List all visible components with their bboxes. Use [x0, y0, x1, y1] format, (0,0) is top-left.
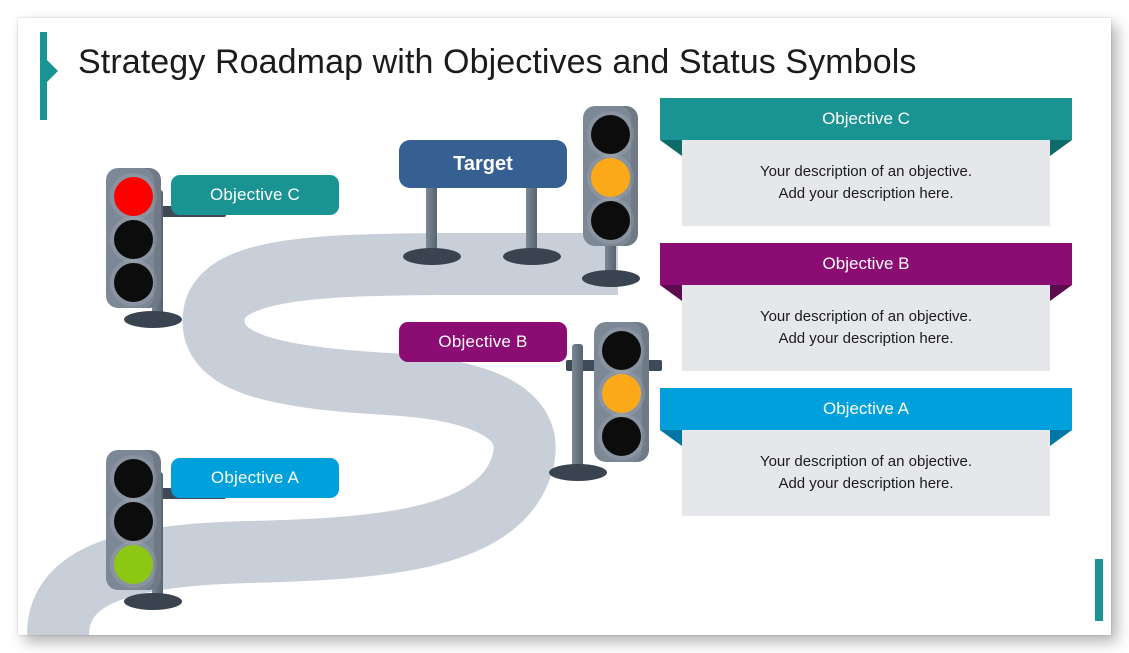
ribbon-fold-right [1050, 140, 1072, 156]
traffic-light-housing [594, 322, 649, 462]
objective-card-a[interactable]: Objective A Your description of an objec… [682, 388, 1050, 516]
objective-card-a-line2: Add your description here. [760, 473, 972, 496]
objective-card-b-line2: Add your description here. [760, 328, 972, 351]
objective-card-c[interactable]: Objective C Your description of an objec… [682, 98, 1050, 226]
left-accent-arrow-icon [47, 60, 58, 82]
objective-card-b-title: Objective B [823, 254, 910, 274]
traffic-light-housing [106, 168, 161, 308]
lamp-amber-off [114, 220, 153, 259]
traffic-light-housing [583, 106, 638, 246]
lamp-red-off [602, 331, 641, 370]
pill-objective-a-label: Objective A [211, 468, 299, 488]
objective-card-b-body: Your description of an objective. Add yo… [682, 285, 1050, 371]
objective-card-a-body: Your description of an objective. Add yo… [682, 430, 1050, 516]
target-post-left [426, 185, 437, 257]
traffic-light-base [582, 270, 640, 287]
objective-card-c-line1: Your description of an objective. [760, 161, 972, 184]
slide-canvas: Strategy Roadmap with Objectives and Sta… [18, 18, 1111, 635]
objective-card-a-line1: Your description of an objective. [760, 451, 972, 474]
objective-card-a-title: Objective A [823, 399, 909, 419]
lamp-amber-on [602, 374, 641, 413]
lamp-red-off [591, 115, 630, 154]
objective-card-c-title: Objective C [822, 109, 910, 129]
objective-card-c-line2: Add your description here. [760, 183, 972, 206]
traffic-light-base [124, 593, 182, 610]
traffic-light-base [549, 464, 607, 481]
lamp-amber-on [591, 158, 630, 197]
target-label: Target [453, 153, 513, 176]
lamp-green-off [591, 201, 630, 240]
lamp-red-off [114, 459, 153, 498]
lamp-green-on [114, 545, 153, 584]
ribbon-fold-left [660, 285, 682, 301]
ribbon-fold-right [1050, 285, 1072, 301]
target-base-left [403, 248, 461, 265]
objective-card-b-line1: Your description of an objective. [760, 306, 972, 329]
objective-card-c-header: Objective C [660, 98, 1072, 140]
traffic-light-housing [106, 450, 161, 590]
lamp-red-on [114, 177, 153, 216]
traffic-light-pole [572, 344, 583, 474]
lamp-amber-off [114, 502, 153, 541]
objective-card-b[interactable]: Objective B Your description of an objec… [682, 243, 1050, 371]
target-post-right [526, 185, 537, 257]
lamp-green-off [114, 263, 153, 302]
pill-objective-b[interactable]: Objective B [399, 322, 567, 362]
lamp-green-off [602, 417, 641, 456]
objective-card-b-header: Objective B [660, 243, 1072, 285]
traffic-light-base [124, 311, 182, 328]
ribbon-fold-left [660, 140, 682, 156]
pill-objective-c[interactable]: Objective C [171, 175, 339, 215]
target-sign-plate[interactable]: Target [399, 140, 567, 188]
pill-objective-b-label: Objective B [438, 332, 527, 352]
objective-card-c-body: Your description of an objective. Add yo… [682, 140, 1050, 226]
page-title: Strategy Roadmap with Objectives and Sta… [78, 43, 1038, 82]
pill-objective-c-label: Objective C [210, 185, 300, 205]
objective-card-a-header: Objective A [660, 388, 1072, 430]
pill-objective-a[interactable]: Objective A [171, 458, 339, 498]
ribbon-fold-right [1050, 430, 1072, 446]
target-base-right [503, 248, 561, 265]
ribbon-fold-left [660, 430, 682, 446]
